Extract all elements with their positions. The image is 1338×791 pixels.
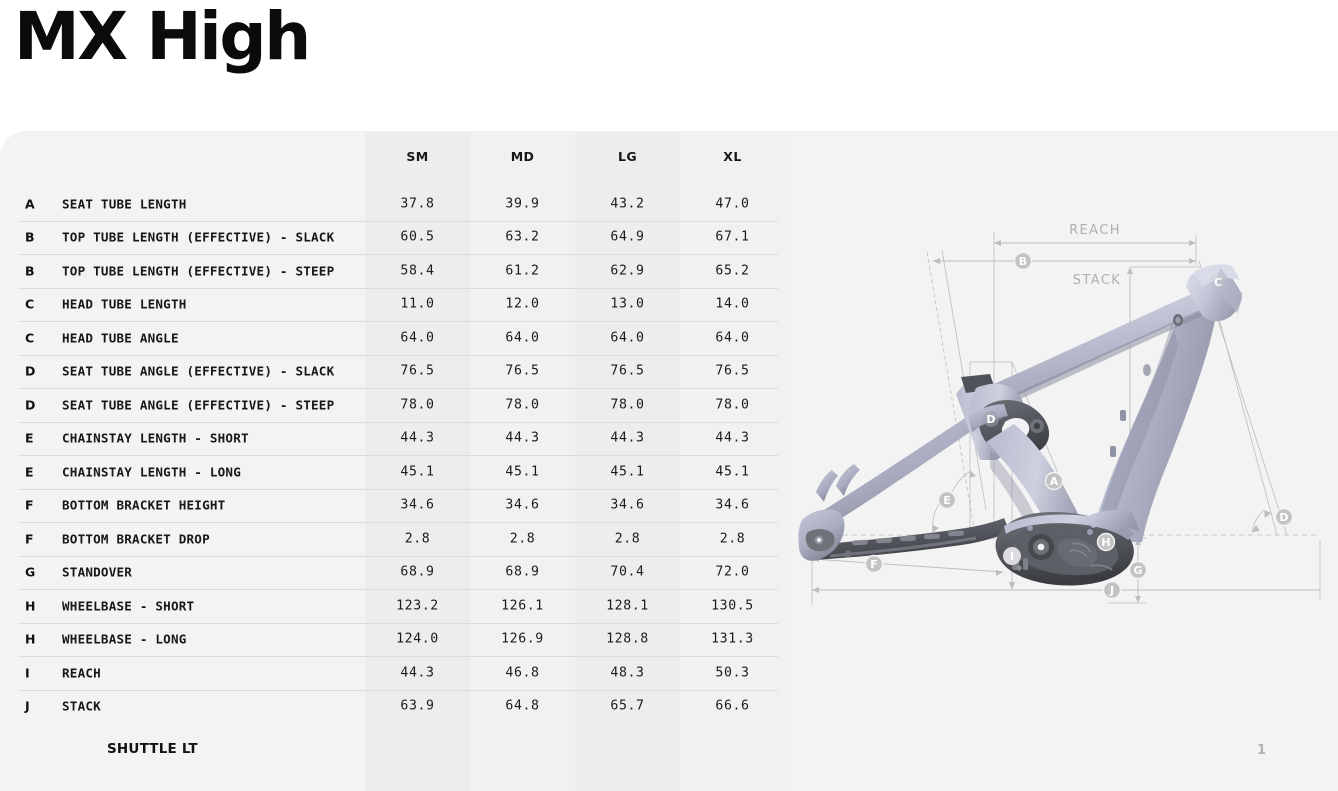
row-key: B (25, 230, 35, 245)
row-key: D (25, 397, 35, 412)
bike-frame-geometry-diagram: B C D A D (790, 210, 1338, 610)
row-label: TOP TUBE LENGTH (EFFECTIVE) - STEEP (62, 263, 334, 278)
svg-text:A: A (1050, 475, 1059, 488)
table-cell: 67.1 (680, 230, 785, 245)
table-cell: 11.0 (365, 297, 470, 312)
table-cell: 68.9 (470, 565, 575, 580)
row-separator (18, 388, 778, 389)
table-cell: 47.0 (680, 196, 785, 211)
table-row: JSTACK63.964.865.766.6 (0, 690, 800, 724)
table-cell: 128.1 (575, 598, 680, 613)
table-cell: 14.0 (680, 297, 785, 312)
column-header-xl: XL (680, 149, 785, 164)
table-row: BTOP TUBE LENGTH (EFFECTIVE) - STEEP58.4… (0, 254, 800, 288)
svg-text:H: H (1101, 536, 1110, 549)
model-name-footer: SHUTTLE LT (107, 741, 198, 757)
table-cell: 63.9 (365, 699, 470, 714)
table-row: ECHAINSTAY LENGTH - SHORT44.344.344.344.… (0, 422, 800, 456)
table-cell: 50.3 (680, 665, 785, 680)
row-separator (18, 489, 778, 490)
callout-badge-c: C (1210, 274, 1227, 291)
row-key: H (25, 632, 35, 647)
table-cell: 44.3 (680, 431, 785, 446)
table-row: IREACH44.346.848.350.3 (0, 656, 800, 690)
callout-badge-f: F (866, 556, 883, 573)
column-header-md: MD (470, 149, 575, 164)
table-cell: 39.9 (470, 196, 575, 211)
table-row: CHEAD TUBE LENGTH11.012.013.014.0 (0, 288, 800, 322)
table-cell: 44.3 (365, 431, 470, 446)
row-separator (18, 254, 778, 255)
page-number: 1 (1257, 743, 1266, 758)
row-key: B (25, 263, 35, 278)
row-key: E (25, 464, 34, 479)
table-row: FBOTTOM BRACKET DROP2.82.82.82.8 (0, 522, 800, 556)
table-cell: 68.9 (365, 565, 470, 580)
frame-artwork (798, 264, 1242, 585)
table-cell: 2.8 (575, 531, 680, 546)
table-cell: 76.5 (680, 364, 785, 379)
row-label: WHEELBASE - LONG (62, 632, 187, 647)
table-row: DSEAT TUBE ANGLE (EFFECTIVE) - STEEP78.0… (0, 388, 800, 422)
row-separator (18, 556, 778, 557)
table-cell: 123.2 (365, 598, 470, 613)
reach-label: REACH (1069, 223, 1121, 238)
table-cell: 130.5 (680, 598, 785, 613)
row-separator (18, 221, 778, 222)
row-separator (18, 623, 778, 624)
row-label: HEAD TUBE LENGTH (62, 297, 187, 312)
table-cell: 66.6 (680, 699, 785, 714)
callout-badge-h: H (1098, 534, 1115, 551)
table-cell: 78.0 (470, 397, 575, 412)
row-label: HEAD TUBE ANGLE (62, 330, 179, 345)
table-row: ASEAT TUBE LENGTH37.839.943.247.0 (0, 187, 800, 221)
callout-badge-d-seat: D (983, 411, 999, 427)
table-row: GSTANDOVER68.968.970.472.0 (0, 556, 800, 590)
row-label: CHAINSTAY LENGTH - SHORT (62, 431, 249, 446)
table-body: ASEAT TUBE LENGTH37.839.943.247.0BTOP TU… (0, 187, 800, 723)
row-key: H (25, 598, 35, 613)
table-cell: 76.5 (470, 364, 575, 379)
table-row: FBOTTOM BRACKET HEIGHT34.634.634.634.6 (0, 489, 800, 523)
row-separator (18, 522, 778, 523)
row-separator (18, 656, 778, 657)
table-cell: 126.9 (470, 632, 575, 647)
table-cell: 63.2 (470, 230, 575, 245)
table-cell: 128.8 (575, 632, 680, 647)
table-cell: 76.5 (365, 364, 470, 379)
row-label: BOTTOM BRACKET DROP (62, 531, 210, 546)
row-label: SEAT TUBE ANGLE (EFFECTIVE) - SLACK (62, 364, 334, 379)
table-header-row: SM MD LG XL (0, 149, 800, 179)
row-separator (18, 321, 778, 322)
svg-text:J: J (1109, 584, 1114, 597)
table-cell: 34.6 (470, 498, 575, 513)
row-label: STACK (62, 699, 101, 714)
callout-badge-g: G (1130, 562, 1147, 579)
table-cell: 37.8 (365, 196, 470, 211)
row-label: CHAINSTAY LENGTH - LONG (62, 464, 241, 479)
callout-badge-b: B (1015, 253, 1032, 270)
table-cell: 78.0 (680, 397, 785, 412)
row-separator (18, 355, 778, 356)
stack-label: STACK (1073, 273, 1121, 288)
table-cell: 44.3 (575, 431, 680, 446)
table-cell: 34.6 (575, 498, 680, 513)
row-label: SEAT TUBE LENGTH (62, 196, 187, 211)
table-cell: 45.1 (365, 464, 470, 479)
row-label: REACH (62, 665, 101, 680)
table-row: DSEAT TUBE ANGLE (EFFECTIVE) - SLACK76.5… (0, 355, 800, 389)
row-label: WHEELBASE - SHORT (62, 598, 194, 613)
table-cell: 72.0 (680, 565, 785, 580)
table-cell: 2.8 (680, 531, 785, 546)
row-key: A (25, 196, 35, 211)
svg-text:D: D (986, 413, 995, 426)
callout-badge-a: A (1046, 473, 1063, 490)
table-cell: 70.4 (575, 565, 680, 580)
row-key: J (25, 699, 30, 714)
column-header-sm: SM (365, 149, 470, 164)
table-cell: 126.1 (470, 598, 575, 613)
f-dimension-line (812, 559, 1003, 572)
row-key: C (25, 330, 34, 345)
row-separator (18, 455, 778, 456)
row-key: C (25, 297, 34, 312)
table-cell: 64.0 (680, 330, 785, 345)
row-label: SEAT TUBE ANGLE (EFFECTIVE) - STEEP (62, 397, 334, 412)
page-title: MX High (14, 4, 309, 70)
table-cell: 44.3 (470, 431, 575, 446)
table-cell: 13.0 (575, 297, 680, 312)
table-cell: 45.1 (470, 464, 575, 479)
callout-badge-d: D (1276, 509, 1293, 526)
table-cell: 65.2 (680, 263, 785, 278)
table-row: HWHEELBASE - SHORT123.2126.1128.1130.5 (0, 589, 800, 623)
svg-text:B: B (1019, 255, 1027, 268)
table-cell: 124.0 (365, 632, 470, 647)
row-key: G (25, 565, 35, 580)
callout-badge-i: I (1003, 547, 1021, 565)
table-cell: 58.4 (365, 263, 470, 278)
table-cell: 2.8 (470, 531, 575, 546)
table-cell: 2.8 (365, 531, 470, 546)
table-cell: 61.2 (470, 263, 575, 278)
svg-text:D: D (1279, 511, 1288, 524)
row-key: I (25, 665, 30, 680)
row-separator (18, 589, 778, 590)
row-key: F (25, 498, 34, 513)
callout-badge-e: E (939, 492, 956, 509)
table-cell: 64.9 (575, 230, 680, 245)
table-cell: 64.0 (575, 330, 680, 345)
table-cell: 131.3 (680, 632, 785, 647)
table-cell: 65.7 (575, 699, 680, 714)
svg-text:G: G (1133, 564, 1142, 577)
column-header-lg: LG (575, 149, 680, 164)
table-cell: 44.3 (365, 665, 470, 680)
geometry-panel: SM MD LG XL ASEAT TUBE LENGTH37.839.943.… (0, 131, 1338, 791)
table-row: HWHEELBASE - LONG124.0126.9128.8131.3 (0, 623, 800, 657)
svg-text:F: F (870, 558, 878, 571)
svg-text:C: C (1214, 276, 1222, 289)
row-label: BOTTOM BRACKET HEIGHT (62, 498, 225, 513)
table-cell: 12.0 (470, 297, 575, 312)
row-label: TOP TUBE LENGTH (EFFECTIVE) - SLACK (62, 230, 334, 245)
table-cell: 64.0 (470, 330, 575, 345)
svg-text:E: E (943, 494, 951, 507)
table-cell: 34.6 (680, 498, 785, 513)
row-separator (18, 422, 778, 423)
table-cell: 64.0 (365, 330, 470, 345)
svg-text:I: I (1010, 550, 1014, 563)
table-row: BTOP TUBE LENGTH (EFFECTIVE) - SLACK60.5… (0, 221, 800, 255)
table-cell: 45.1 (575, 464, 680, 479)
table-cell: 60.5 (365, 230, 470, 245)
table-cell: 43.2 (575, 196, 680, 211)
row-key: D (25, 364, 35, 379)
table-cell: 48.3 (575, 665, 680, 680)
row-label: STANDOVER (62, 565, 132, 580)
table-cell: 64.8 (470, 699, 575, 714)
table-row: ECHAINSTAY LENGTH - LONG45.145.145.145.1 (0, 455, 800, 489)
row-key: F (25, 531, 34, 546)
table-cell: 45.1 (680, 464, 785, 479)
table-cell: 34.6 (365, 498, 470, 513)
table-cell: 46.8 (470, 665, 575, 680)
table-cell: 76.5 (575, 364, 680, 379)
callout-badge-j: J (1104, 582, 1121, 599)
row-separator (18, 690, 778, 691)
table-cell: 62.9 (575, 263, 680, 278)
table-row: CHEAD TUBE ANGLE64.064.064.064.0 (0, 321, 800, 355)
row-key: E (25, 431, 34, 446)
table-cell: 78.0 (365, 397, 470, 412)
table-cell: 78.0 (575, 397, 680, 412)
row-separator (18, 288, 778, 289)
